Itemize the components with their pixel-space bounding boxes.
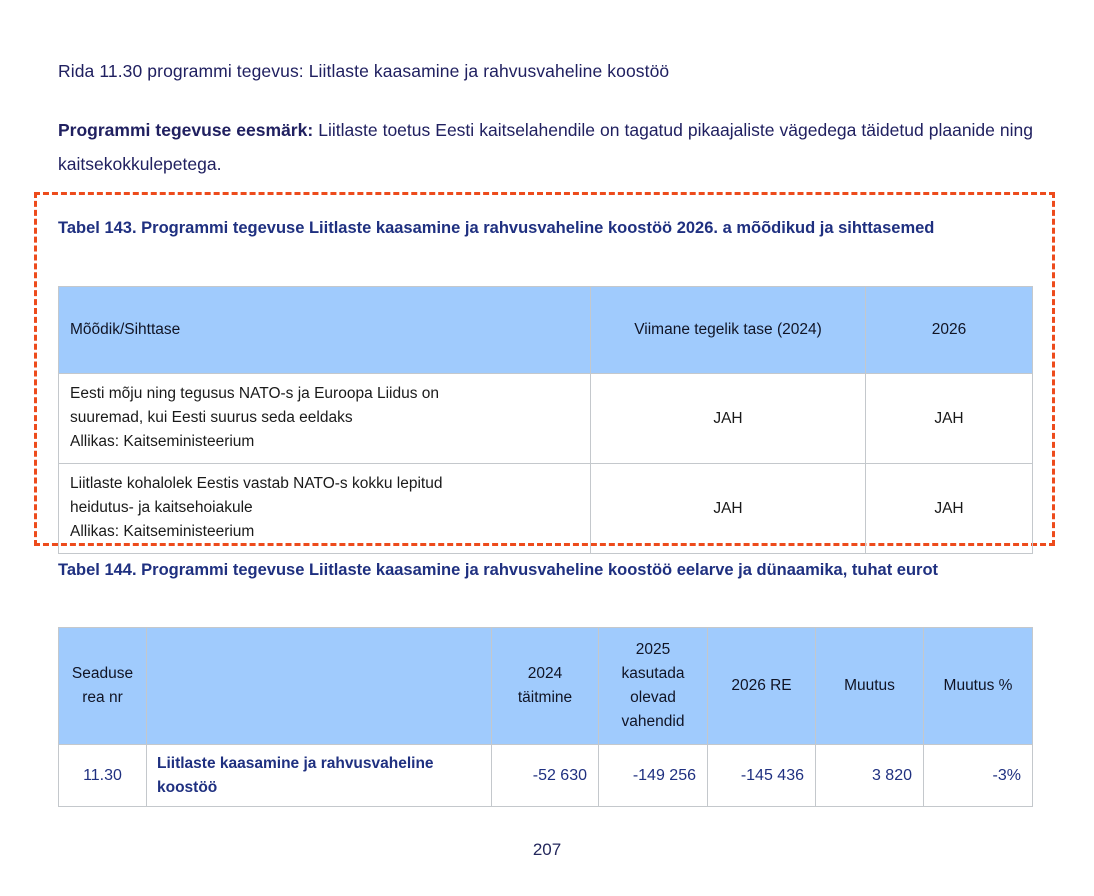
table-144-value-change: 3 820 bbox=[816, 745, 924, 807]
table-144-col-name bbox=[147, 628, 492, 745]
table-143-last-actual-value: JAH bbox=[591, 374, 866, 464]
table-143-target-2026-value: JAH bbox=[866, 464, 1033, 554]
table-143-caption: Tabel 143. Programmi tegevuse Liitlaste … bbox=[58, 215, 1038, 242]
table-144-col-2026-re: 2026 RE bbox=[708, 628, 816, 745]
table-144-header: Seaduse rea nr 2024 täitmine 2025 kasuta… bbox=[59, 628, 1033, 745]
table-143-body: Eesti mõju ning tegusus NATO-s ja Euroop… bbox=[59, 374, 1033, 554]
header-line: 2025 bbox=[603, 638, 703, 662]
table-144-row-nr: 11.30 bbox=[59, 745, 147, 807]
table-144-caption: Tabel 144. Programmi tegevuse Liitlaste … bbox=[58, 557, 1038, 584]
programme-goal-paragraph: Programmi tegevuse eesmärk: Liitlaste to… bbox=[58, 113, 1033, 181]
header-line: täitmine bbox=[496, 686, 594, 710]
table-144-col-2024: 2024 täitmine bbox=[492, 628, 599, 745]
table-row: Seaduse rea nr 2024 täitmine 2025 kasuta… bbox=[59, 628, 1033, 745]
table-143-header: Mõõdik/Sihttase Viimane tegelik tase (20… bbox=[59, 287, 1033, 374]
table-144: Seaduse rea nr 2024 täitmine 2025 kasuta… bbox=[58, 627, 1033, 807]
header-line: rea nr bbox=[63, 686, 142, 710]
table-143-target-2026-value: JAH bbox=[866, 374, 1033, 464]
table-144-col-2025: 2025 kasutada olevad vahendid bbox=[599, 628, 708, 745]
table-144-col-change-pct: Muutus % bbox=[924, 628, 1033, 745]
table-143-col-metric: Mõõdik/Sihttase bbox=[59, 287, 591, 374]
page-number: 207 bbox=[0, 840, 1094, 860]
table-144-body: 11.30 Liitlaste kaasamine ja rahvusvahel… bbox=[59, 745, 1033, 807]
programme-goal-label: Programmi tegevuse eesmärk: bbox=[58, 120, 313, 140]
metric-line: Liitlaste kohalolek Eestis vastab NATO-s… bbox=[70, 472, 580, 496]
header-line: vahendid bbox=[603, 710, 703, 734]
table-143-metric-cell: Liitlaste kohalolek Eestis vastab NATO-s… bbox=[59, 464, 591, 554]
page-title: Rida 11.30 programmi tegevus: Liitlaste … bbox=[58, 58, 1048, 84]
table-144-row-name: Liitlaste kaasamine ja rahvusvaheline ko… bbox=[147, 745, 492, 807]
table-144-col-change: Muutus bbox=[816, 628, 924, 745]
table-row: Liitlaste kohalolek Eestis vastab NATO-s… bbox=[59, 464, 1033, 554]
table-144-value-2025: -149 256 bbox=[599, 745, 708, 807]
table-row: 11.30 Liitlaste kaasamine ja rahvusvahel… bbox=[59, 745, 1033, 807]
row-name-line: Liitlaste kaasamine ja rahvusvaheline bbox=[157, 752, 481, 776]
table-143-last-actual-value: JAH bbox=[591, 464, 866, 554]
document-page: Rida 11.30 programmi tegevus: Liitlaste … bbox=[0, 0, 1094, 896]
table-144-value-2026: -145 436 bbox=[708, 745, 816, 807]
table-143-col-2026: 2026 bbox=[866, 287, 1033, 374]
metric-source: Allikas: Kaitseministeerium bbox=[70, 430, 580, 454]
table-144-value-2024: -52 630 bbox=[492, 745, 599, 807]
table-row: Eesti mõju ning tegusus NATO-s ja Euroop… bbox=[59, 374, 1033, 464]
header-line: kasutada bbox=[603, 662, 703, 686]
metric-source: Allikas: Kaitseministeerium bbox=[70, 520, 580, 544]
table-143: Mõõdik/Sihttase Viimane tegelik tase (20… bbox=[58, 286, 1033, 554]
row-name-line: koostöö bbox=[157, 776, 481, 800]
header-line: Seaduse bbox=[63, 662, 142, 686]
header-line: olevad bbox=[603, 686, 703, 710]
metric-line: suuremad, kui Eesti suurus seda eeldaks bbox=[70, 406, 580, 430]
table-143-col-last-actual: Viimane tegelik tase (2024) bbox=[591, 287, 866, 374]
table-144-col-row-nr: Seaduse rea nr bbox=[59, 628, 147, 745]
metric-line: Eesti mõju ning tegusus NATO-s ja Euroop… bbox=[70, 382, 580, 406]
header-line: 2024 bbox=[496, 662, 594, 686]
table-144-value-change-pct: -3% bbox=[924, 745, 1033, 807]
table-143-metric-cell: Eesti mõju ning tegusus NATO-s ja Euroop… bbox=[59, 374, 591, 464]
metric-line: heidutus- ja kaitsehoiakule bbox=[70, 496, 580, 520]
table-row: Mõõdik/Sihttase Viimane tegelik tase (20… bbox=[59, 287, 1033, 374]
